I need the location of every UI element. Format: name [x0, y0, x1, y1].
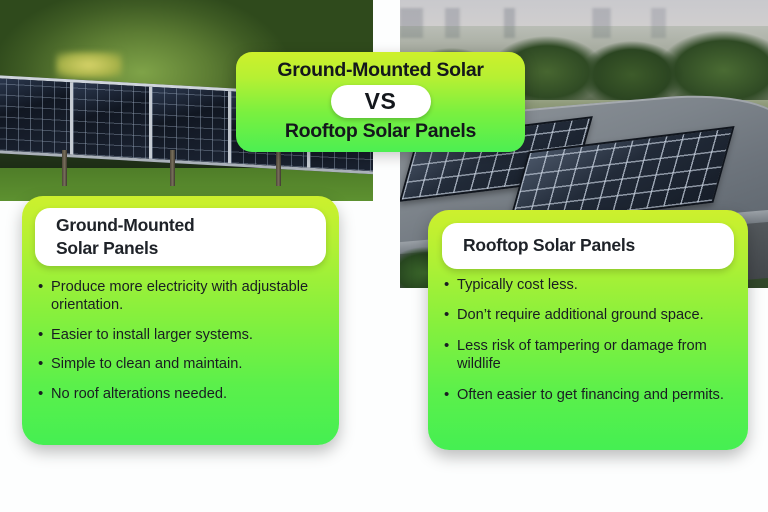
versus-label: VS [365, 88, 397, 115]
ground-mounted-benefit-list: • Produce more electricity with adjustab… [22, 278, 339, 414]
card-title-line-2: Solar Panels [56, 237, 326, 260]
list-item: • Easier to install larger systems. [38, 326, 323, 344]
bullet-dot: • [444, 386, 457, 404]
card-title-line-1: Rooftop Solar Panels [463, 234, 734, 257]
sunlit-field-gap [56, 52, 122, 78]
bullet-dot: • [38, 355, 51, 373]
list-item: • Simple to clean and maintain. [38, 355, 323, 373]
ground-mounted-card-title: Ground-Mounted Solar Panels [35, 208, 326, 266]
ground-mounted-card: Ground-Mounted Solar Panels • Produce mo… [22, 196, 339, 445]
infographic-canvas: Ground-Mounted Solar VS Rooftop Solar Pa… [0, 0, 768, 512]
bullet-dot: • [444, 306, 457, 324]
rooftop-card-title: Rooftop Solar Panels [442, 223, 734, 269]
rooftop-card: Rooftop Solar Panels • Typically cost le… [428, 210, 748, 450]
header-top-line: Ground-Mounted Solar [277, 59, 483, 82]
list-item: • Typically cost less. [444, 276, 732, 294]
list-item-text: Typically cost less. [457, 276, 732, 294]
list-item-text: Less risk of tampering or damage from wi… [457, 337, 732, 374]
versus-header-badge: Ground-Mounted Solar VS Rooftop Solar Pa… [236, 52, 525, 152]
list-item: • Often easier to get financing and perm… [444, 386, 732, 404]
list-item: • Don’t require additional ground space. [444, 306, 732, 324]
list-item-text: No roof alterations needed. [51, 385, 323, 403]
mounting-leg [170, 150, 175, 186]
list-item: • Less risk of tampering or damage from … [444, 337, 732, 374]
bullet-dot: • [38, 326, 51, 344]
list-item-text: Don’t require additional ground space. [457, 306, 732, 324]
solar-panel [0, 78, 73, 154]
card-title-line-1: Ground-Mounted [56, 214, 326, 237]
list-item-text: Often easier to get financing and permit… [457, 386, 732, 404]
bullet-dot: • [38, 278, 51, 315]
bullet-dot: • [38, 385, 51, 403]
bullet-dot: • [444, 337, 457, 374]
versus-pill: VS [331, 85, 431, 118]
rooftop-benefit-list: • Typically cost less. • Don’t require a… [428, 276, 748, 416]
solar-panel [73, 82, 152, 158]
list-item: • No roof alterations needed. [38, 385, 323, 403]
list-item-text: Simple to clean and maintain. [51, 355, 323, 373]
mounting-leg [62, 150, 67, 186]
header-bottom-line: Rooftop Solar Panels [285, 120, 476, 143]
list-item-text: Produce more electricity with adjustable… [51, 278, 323, 315]
list-item-text: Easier to install larger systems. [51, 326, 323, 344]
bullet-dot: • [444, 276, 457, 294]
mounting-leg [276, 150, 281, 186]
solar-panel [152, 87, 231, 163]
list-item: • Produce more electricity with adjustab… [38, 278, 323, 315]
